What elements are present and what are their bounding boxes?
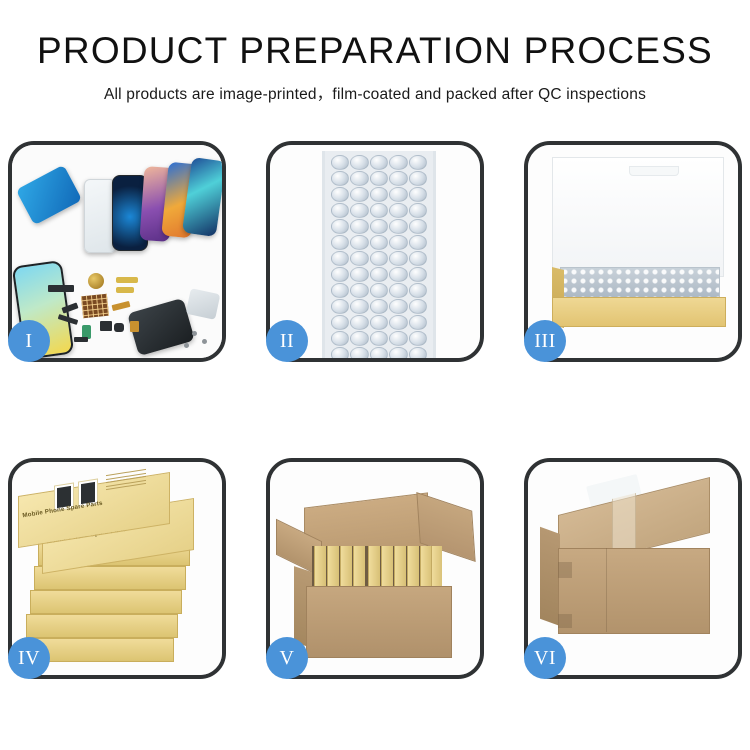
- step-panel-3: III: [524, 141, 742, 362]
- stacked-box: [26, 614, 178, 638]
- box-front-icon: [552, 297, 726, 327]
- small-part-icon: [48, 285, 74, 292]
- step-panel-5: V: [266, 458, 484, 679]
- step-badge-4: IV: [8, 637, 50, 679]
- step-panel-1: I: [8, 141, 226, 362]
- carton-contents: [312, 546, 442, 590]
- bubble-pouch-icon: [322, 151, 436, 358]
- coil-part-icon: [88, 273, 104, 289]
- carton-seam: [606, 548, 607, 632]
- screw-icon: [184, 343, 189, 348]
- carton-front-icon: [306, 586, 452, 658]
- small-part-icon: [130, 321, 139, 332]
- carton-seam: [558, 562, 572, 578]
- small-part-icon: [114, 323, 124, 332]
- process-steps-grid: I: [8, 141, 742, 679]
- page-title: PRODUCT PREPARATION PROCESS: [0, 32, 750, 71]
- packing-tape-icon: [612, 493, 636, 555]
- screw-icon: [202, 339, 207, 344]
- page-subtitle: All products are image-printed，film-coat…: [0, 82, 750, 104]
- small-part-icon: [74, 337, 88, 342]
- small-part-icon: [100, 321, 112, 331]
- flex-cable-icon: [116, 287, 134, 293]
- bubble-grid: [331, 155, 427, 358]
- screw-icon: [192, 331, 197, 336]
- carton-front-icon: [558, 548, 710, 634]
- carton-seam: [558, 614, 572, 628]
- step-badge-5: V: [266, 637, 308, 679]
- flex-cable-icon: [116, 277, 138, 283]
- page-header: PRODUCT PREPARATION PROCESS All products…: [0, 0, 750, 104]
- step-badge-3: III: [524, 320, 566, 362]
- bubble-wrap-layer-icon: [560, 267, 720, 301]
- step-badge-2: II: [266, 320, 308, 362]
- stacked-box: [30, 590, 182, 614]
- step-panel-4: Mobile Phone Spare Parts Mobile Phone Sp…: [8, 458, 226, 679]
- step-badge-1: I: [8, 320, 50, 362]
- carton-side-icon: [540, 527, 560, 626]
- grid-chip-icon: [81, 294, 109, 319]
- box-lid-icon: [552, 157, 724, 277]
- step-panel-2: II: [266, 141, 484, 362]
- step-panel-6: VI: [524, 458, 742, 679]
- step-badge-6: VI: [524, 637, 566, 679]
